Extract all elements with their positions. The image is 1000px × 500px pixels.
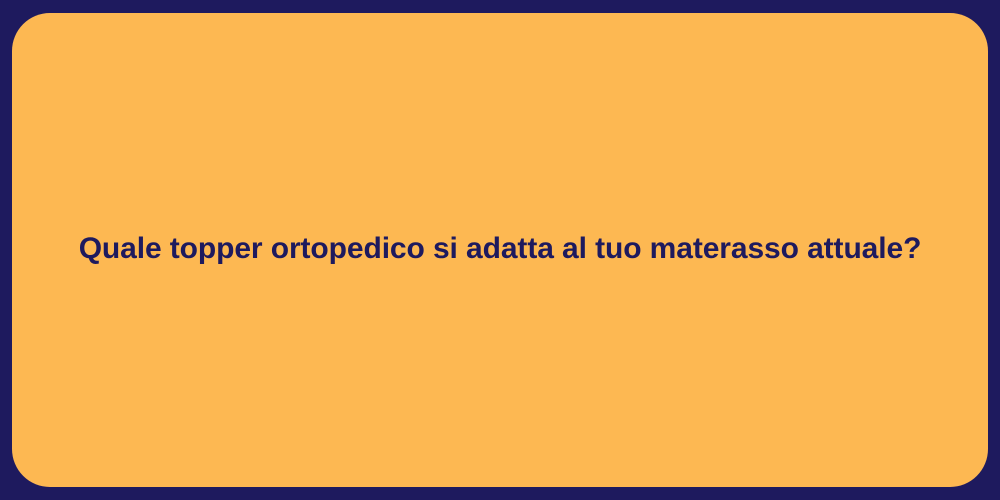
banner-panel: Quale topper ortopedico si adatta al tuo…	[12, 13, 988, 487]
banner-frame: Quale topper ortopedico si adatta al tuo…	[0, 0, 1000, 500]
banner-headline: Quale topper ortopedico si adatta al tuo…	[79, 230, 922, 268]
